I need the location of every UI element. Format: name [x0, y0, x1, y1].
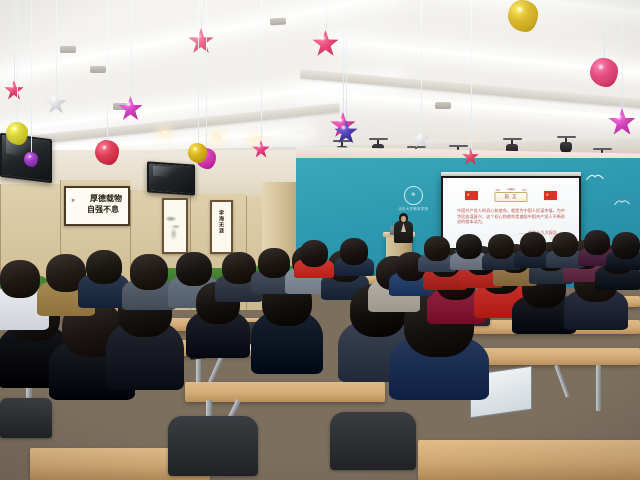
balloon-star [4, 80, 24, 101]
ceiling-downlight [160, 130, 169, 135]
attendee-row5-f [520, 232, 546, 268]
balloon-highlight [417, 134, 422, 138]
balloon-highlight [125, 101, 132, 107]
balloon-star [608, 108, 636, 137]
attendee-row5-d [456, 234, 482, 270]
person-head [552, 232, 578, 257]
calligraphy-line-1: 厚德载物 [90, 195, 122, 203]
balloon-body [312, 30, 339, 58]
balloon-highlight [101, 145, 108, 150]
calligraphy-scroll: 学海无涯 [210, 200, 233, 254]
balloon-ribbon [604, 0, 605, 58]
balloon-highlight [516, 6, 524, 13]
balloon-ribbon [421, 0, 422, 130]
balloon-puff [24, 152, 38, 167]
ceiling-vent-icon [90, 66, 106, 73]
bird-icon [614, 198, 630, 206]
balloon-body [462, 148, 479, 166]
desk-leg [596, 365, 601, 411]
speaker-face [401, 216, 406, 222]
balloon-body [188, 28, 214, 55]
balloon-body [252, 140, 270, 159]
chair [0, 398, 52, 438]
emblem-caption: 北京大学教育学院 [398, 207, 428, 212]
desk-leg [208, 354, 224, 383]
desk-row-foreground [418, 440, 640, 480]
attendee-row5-e [488, 234, 514, 270]
person-head [488, 234, 514, 259]
balloon-puff [6, 122, 28, 145]
slide-body-text: 中国共产党人的初心和使命，就是为中国人民谋幸福，为中华民族谋复兴。这个初心和使命… [457, 208, 565, 225]
person-head [340, 238, 368, 265]
balloon-star [334, 120, 358, 145]
person-head [584, 230, 610, 255]
person-head [520, 232, 546, 257]
balloon-body [334, 120, 358, 145]
balloon-highlight [597, 64, 605, 70]
balloon-puff [95, 140, 119, 165]
balloon-body [95, 140, 119, 165]
balloon-highlight [195, 33, 202, 39]
person-head [300, 240, 328, 267]
ceiling-vent-icon [435, 102, 451, 109]
balloon-star [312, 30, 339, 58]
balloon-ribbon [206, 0, 207, 148]
attendee-white-top [0, 260, 40, 330]
desk-leg [554, 364, 569, 397]
balloon-star [462, 148, 479, 166]
attendee-row5-a [300, 240, 328, 278]
balloon-highlight [615, 114, 623, 120]
balloon-highlight [9, 84, 15, 88]
balloon-highlight [466, 151, 471, 155]
balloon-body [412, 130, 430, 149]
calligraphy-frame: 厚德载物 自强不息 学 [64, 186, 130, 226]
balloon-star [188, 28, 214, 55]
balloon-highlight [28, 155, 32, 158]
ceiling-vent-icon [270, 17, 286, 25]
balloon-puff [188, 143, 207, 163]
calligraphy-line-2: 自强不息 [87, 206, 119, 214]
person-head [0, 260, 40, 298]
balloon-star [45, 92, 67, 115]
slide-title: 前 言 [494, 192, 527, 202]
balloon-star [252, 140, 270, 159]
balloon-ribbon [201, 0, 202, 28]
balloon-ribbon [622, 0, 623, 108]
balloon-ribbon [56, 0, 57, 92]
desk-row [185, 382, 385, 402]
attendee-row5-b [340, 238, 368, 276]
balloon-highlight [193, 147, 198, 151]
attendee-row5-g [552, 232, 578, 268]
balloon-highlight [340, 125, 347, 130]
balloon-puff [590, 58, 618, 87]
balloon-body [6, 122, 28, 145]
track-spotlight-icon [560, 138, 572, 153]
balloon-highlight [12, 126, 18, 131]
balloon-star [118, 96, 143, 122]
person-head [612, 232, 640, 259]
attendee-row5-i [612, 232, 640, 270]
attendee-navy [86, 250, 122, 308]
balloon-body [118, 96, 143, 122]
balloon-ribbon [31, 0, 32, 152]
balloon-ribbon [17, 0, 18, 122]
chair [168, 416, 258, 476]
institution-emblem: ☸ 北京大学教育学院 [398, 186, 428, 212]
ceiling-vent-icon [60, 46, 76, 53]
bird-icon [586, 172, 604, 181]
wall-monitor-center [147, 161, 195, 195]
attendee-grey-stripe [130, 254, 168, 310]
balloon-puff [508, 0, 538, 32]
person-head [86, 250, 122, 284]
person-head [176, 252, 212, 286]
balloon-ribbon [471, 0, 472, 148]
balloon-body [188, 143, 207, 163]
balloon-body [508, 0, 538, 32]
lecture-hall-photo: 厚德载物 自强不息 学 学海无涯 ☸ 北京大学教育学院 ★ [0, 0, 640, 480]
balloon-highlight [257, 144, 262, 148]
ink-painting-scroll [162, 198, 188, 254]
balloon-ribbon [198, 0, 199, 143]
flag-right-icon: ★ [544, 191, 557, 200]
balloon-ribbon [14, 0, 15, 80]
balloon-body [45, 92, 67, 115]
balloon-body [590, 58, 618, 87]
balloon-ribbon [107, 0, 108, 140]
balloon-ribbon [261, 0, 262, 140]
balloon-ribbon [346, 0, 347, 120]
flag-left-icon: ★ [465, 191, 478, 200]
balloon-highlight [319, 35, 327, 41]
calligraphy-signature: 学 [71, 199, 74, 202]
balloon-body [608, 108, 636, 137]
attendee-row5-c [424, 236, 450, 272]
balloon-body [4, 80, 24, 101]
balloon-ribbon [326, 0, 327, 30]
person-head [456, 234, 482, 259]
chair [330, 412, 416, 470]
emblem-circle-icon: ☸ [404, 186, 423, 205]
person-head [424, 236, 450, 261]
balloon-star [412, 130, 430, 149]
person-head [130, 254, 168, 290]
balloon-ribbon [131, 0, 132, 96]
balloon-ribbon [343, 0, 344, 112]
balloon-highlight [51, 96, 57, 101]
ceiling-downlight [212, 134, 221, 139]
